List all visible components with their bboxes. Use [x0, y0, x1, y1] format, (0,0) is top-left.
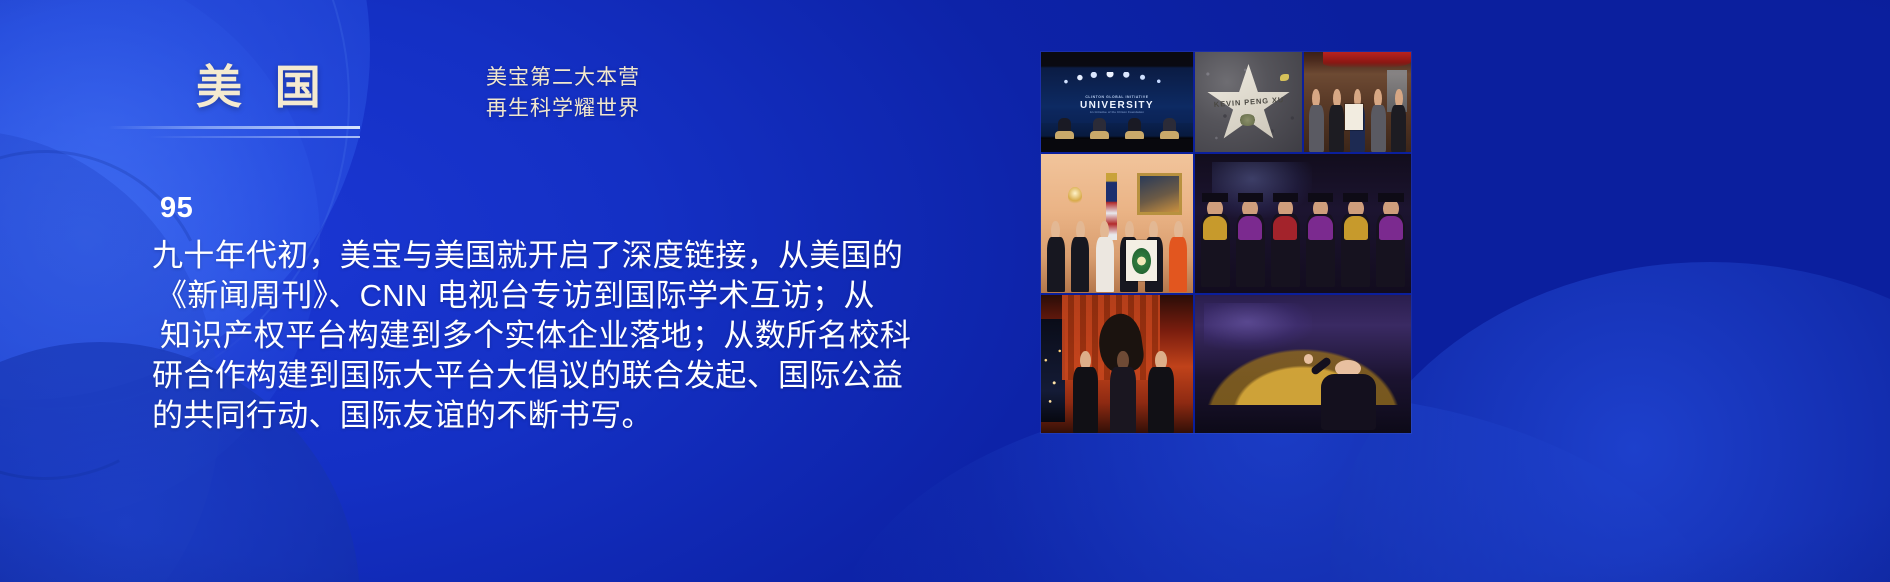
subtitle: 美宝第二大本营 再生科学耀世界	[486, 62, 640, 124]
title-row: 美 国	[196, 62, 331, 113]
person	[1070, 221, 1090, 292]
academic-hood	[1308, 216, 1332, 240]
photo-people-row	[1062, 347, 1184, 433]
photo-caption-small: CLINTON GLOBAL INITIATIVE	[1041, 95, 1193, 99]
panelist	[1054, 115, 1075, 139]
mortarboard	[1273, 193, 1298, 201]
photo-cgi-university-panel: CLINTON GLOBAL INITIATIVE UNIVERSITY An …	[1041, 52, 1193, 152]
mortarboard	[1343, 193, 1368, 201]
photo-waving-figure	[1316, 353, 1381, 431]
photo-wall-sconce	[1068, 187, 1082, 205]
panelist	[1159, 115, 1180, 139]
panelist	[1124, 115, 1145, 139]
stat-number: 95	[160, 192, 193, 225]
body-line-1: 九十年代初，美宝与美国就开启了深度链接，从美国的	[152, 236, 942, 276]
graduate	[1270, 193, 1300, 287]
graduate	[1200, 193, 1230, 287]
body-line-3: 知识产权平台构建到多个实体企业落地；从数所名校科	[152, 316, 942, 356]
mortarboard	[1238, 193, 1263, 201]
person	[1095, 221, 1115, 292]
title-underline-secondary	[150, 136, 360, 138]
photo-stars-decor	[1059, 72, 1175, 88]
mortarboard	[1308, 193, 1333, 201]
graduate	[1341, 193, 1371, 287]
body-line-5: 的共同行动、国际友谊的不断书写。	[152, 396, 942, 436]
content-column: 美 国 美宝第二大本营 再生科学耀世界 95 九十年代初，美宝与美国就开启了深度…	[0, 0, 1010, 582]
academic-hood	[1238, 216, 1262, 240]
photo-caption-tag: An Initiative of the Clinton Foundation	[1041, 110, 1193, 114]
person	[1328, 89, 1345, 152]
photo-red-carpet-gala	[1041, 295, 1193, 434]
photo-academic-convocation	[1195, 154, 1411, 293]
photo-people-row	[1041, 215, 1193, 293]
body-line-4: 研合作构建到国际大平台大倡议的联合发起、国际公益	[152, 356, 942, 396]
graduate	[1235, 193, 1265, 287]
photo-stage-floor	[1041, 139, 1193, 152]
academic-hood	[1273, 216, 1297, 240]
photo-panelists	[1047, 115, 1187, 139]
photo-stage-award-wave	[1195, 295, 1411, 434]
graduate	[1305, 193, 1335, 287]
academic-hood	[1379, 216, 1403, 240]
photo-framed-artwork	[1137, 173, 1183, 215]
photo-pair-top-right: KEVIN PENG XU	[1195, 52, 1411, 152]
academic-hood	[1344, 216, 1368, 240]
figure-hand	[1304, 354, 1313, 363]
photo-collage: CLINTON GLOBAL INITIATIVE UNIVERSITY An …	[1041, 52, 1411, 433]
graduate	[1376, 193, 1406, 287]
body-copy: 九十年代初，美宝与美国就开启了深度链接，从美国的 《新闻周刊》、CNN 电视台专…	[152, 236, 942, 436]
person	[1071, 351, 1100, 433]
person	[1146, 351, 1175, 433]
mortarboard	[1202, 193, 1227, 201]
photo-government-ceremony	[1041, 154, 1193, 293]
person	[1390, 89, 1407, 152]
subtitle-line-2: 再生科学耀世界	[486, 93, 640, 124]
photo-certificate-group	[1304, 52, 1411, 152]
person	[1108, 351, 1137, 433]
mortarboard	[1378, 193, 1403, 201]
photo-red-drape	[1323, 52, 1411, 68]
subtitle-line-1: 美宝第二大本营	[486, 62, 640, 93]
certificate	[1345, 104, 1363, 130]
photo-walk-of-fame-star: KEVIN PENG XU	[1195, 52, 1302, 152]
person	[1046, 221, 1066, 292]
photo-graduates-row	[1195, 187, 1411, 287]
panelist	[1089, 115, 1110, 139]
title-underline-primary	[108, 126, 360, 129]
body-line-2: 《新闻周刊》、CNN 电视台专访到国际学术互访；从	[152, 276, 942, 316]
person	[1308, 89, 1325, 152]
academic-hood	[1203, 216, 1227, 240]
person	[1168, 221, 1188, 292]
award-plaque	[1126, 240, 1156, 282]
page-title: 美 国	[196, 62, 331, 113]
person	[1370, 89, 1387, 152]
award-seal-icon	[1132, 248, 1151, 274]
star-emblem	[1239, 114, 1256, 126]
